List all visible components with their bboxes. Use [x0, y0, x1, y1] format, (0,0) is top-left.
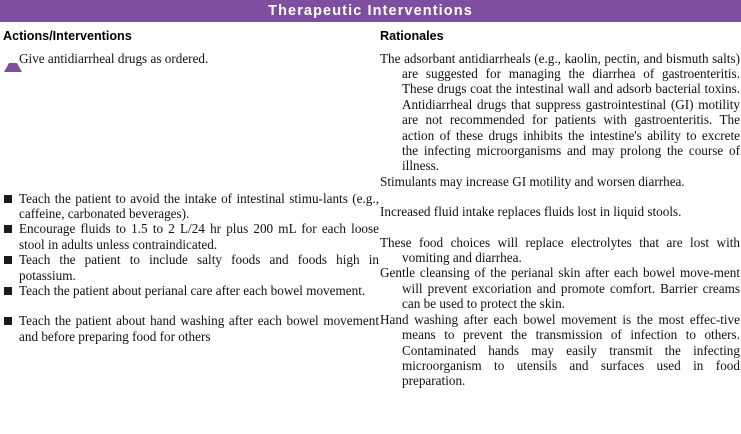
action-item-text: Teach the patient to avoid the intake of… — [19, 191, 379, 222]
rationales-column: Rationales The adsorbant antidiarrheals … — [374, 22, 741, 389]
square-bullet-icon — [4, 317, 12, 325]
action-item: Give antidiarrheal drugs as ordered. — [3, 51, 363, 191]
rationale-text: Gentle cleansing of the perianal skin af… — [380, 265, 740, 311]
header-bar: Therapeutic Interventions — [0, 0, 741, 22]
action-item-text: Teach the patient about hand washing aft… — [19, 313, 379, 344]
triangle-bullet-icon — [4, 55, 22, 72]
actions-column: Actions/Interventions Give antidiarrheal… — [0, 22, 374, 344]
rationale-text: The adsorbant antidiarrheals (e.g., kaol… — [380, 51, 740, 174]
actions-column-heading: Actions/Interventions — [3, 22, 363, 51]
square-bullet-icon — [4, 195, 12, 203]
rationales-column-heading: Rationales — [380, 22, 740, 51]
rationale-text: Stimulants may increase GI motility and … — [380, 174, 740, 189]
rationale-spacer — [380, 220, 381, 235]
action-item-text: Teach the patient to include salty foods… — [19, 252, 379, 283]
action-item-text: Give antidiarrheal drugs as ordered. — [19, 51, 363, 66]
action-item: Teach the patient to avoid the intake of… — [3, 191, 379, 222]
row-spacer — [3, 298, 4, 313]
action-item: Teach the patient about hand washing aft… — [3, 313, 379, 344]
rationale-text: Increased fluid intake replaces fluids l… — [380, 204, 740, 219]
action-item: Teach the patient to include salty foods… — [3, 252, 379, 283]
rationale-text: These food choices will replace electrol… — [380, 235, 740, 266]
square-bullet-icon — [4, 287, 12, 295]
rationale-spacer — [380, 189, 381, 204]
square-bullet-icon — [4, 256, 12, 264]
action-item-text: Encourage fluids to 1.5 to 2 L/24 hr plu… — [19, 221, 379, 252]
action-item: Teach the patient about perianal care af… — [3, 283, 379, 298]
page-title: Therapeutic Interventions — [268, 4, 473, 19]
rationale-text: Hand washing after each bowel movement i… — [380, 312, 740, 389]
content-columns: Actions/Interventions Give antidiarrheal… — [0, 22, 741, 389]
square-bullet-icon — [4, 225, 12, 233]
action-item: Encourage fluids to 1.5 to 2 L/24 hr plu… — [3, 221, 379, 252]
action-item-text: Teach the patient about perianal care af… — [19, 283, 379, 298]
